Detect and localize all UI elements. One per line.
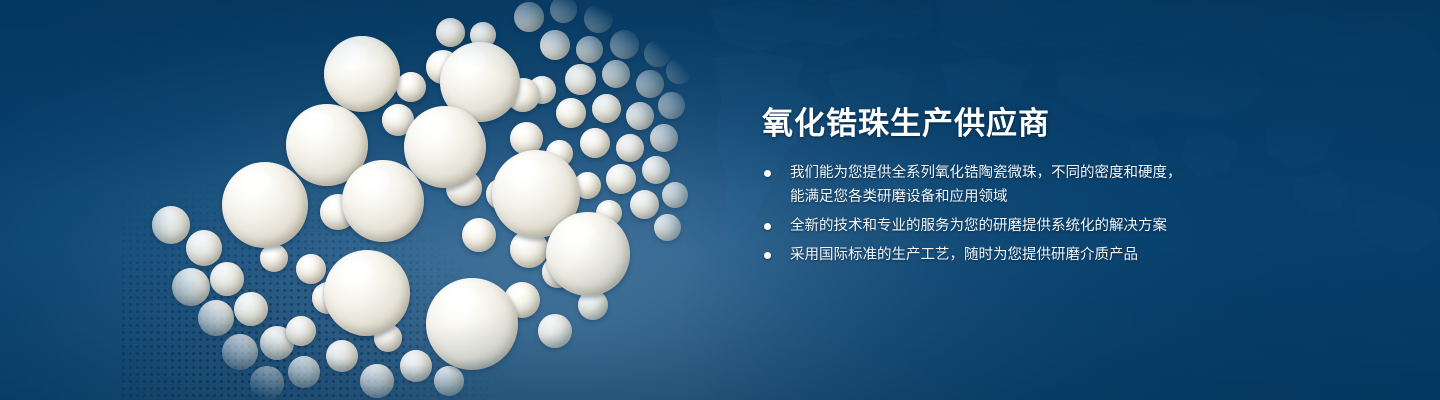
bullet-dot-icon <box>764 170 771 177</box>
banner-text-column: 氧化锆珠生产供应商 我们能为您提供全系列氧化锆陶瓷微珠，不同的密度和硬度， 能满… <box>762 104 1232 267</box>
list-item: 我们能为您提供全系列氧化锆陶瓷微珠，不同的密度和硬度， 能满足您各类研磨设备和应… <box>762 161 1232 209</box>
feature-list: 我们能为您提供全系列氧化锆陶瓷微珠，不同的密度和硬度， 能满足您各类研磨设备和应… <box>762 161 1232 267</box>
list-item-line-1: 我们能为您提供全系列氧化锆陶瓷微珠，不同的密度和硬度， <box>790 161 1232 185</box>
bullet-dot-icon <box>764 223 771 230</box>
list-item-line-1: 全新的技术和专业的服务为您的研磨提供系统化的解决方案 <box>790 214 1232 238</box>
bullet-dot-icon <box>764 252 771 259</box>
list-item: 采用国际标准的生产工艺，随时为您提供研磨介质产品 <box>762 243 1232 267</box>
list-item: 全新的技术和专业的服务为您的研磨提供系统化的解决方案 <box>762 214 1232 238</box>
list-item-line-2: 能满足您各类研磨设备和应用领域 <box>790 185 1232 209</box>
zirconia-beads-photo <box>110 0 730 400</box>
list-item-line-1: 采用国际标准的生产工艺，随时为您提供研磨介质产品 <box>790 243 1232 267</box>
hero-banner: 氧化锆珠生产供应商 我们能为您提供全系列氧化锆陶瓷微珠，不同的密度和硬度， 能满… <box>0 0 1440 400</box>
page-title: 氧化锆珠生产供应商 <box>762 104 1232 144</box>
